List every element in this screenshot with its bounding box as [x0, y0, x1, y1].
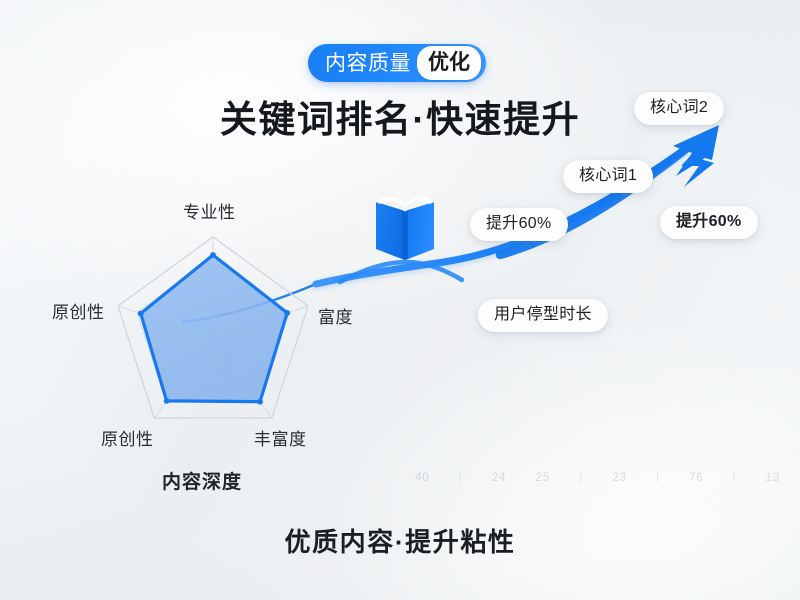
callout-keyword1[interactable]: 核心词1	[563, 160, 653, 193]
badge-chip-label: 优化	[417, 46, 481, 80]
content-depth-label: 内容深度	[162, 467, 242, 494]
callout-dwell-time[interactable]: 用户停型时长	[478, 299, 608, 332]
radar-chart	[28, 232, 398, 447]
open-book-icon	[372, 189, 438, 263]
status-badge[interactable]: 内容质量 优化	[308, 44, 486, 82]
page-title: 关键词排名·快速提升	[0, 89, 800, 143]
book-right-page	[408, 202, 434, 259]
callout-uplift-right[interactable]: 提升60%	[660, 206, 758, 239]
radar-label-bottom-right: 丰富度	[254, 425, 307, 450]
radar-label-left: 原创性	[52, 298, 105, 323]
radar-grid-group	[118, 237, 308, 418]
callout-uplift-left[interactable]: 提升60%	[470, 208, 568, 241]
radar-label-bottom-left: 原创性	[101, 425, 154, 450]
bottom-caption: 优质内容·提升粘性	[0, 522, 800, 559]
radar-label-top: 专业性	[183, 198, 236, 223]
poster-canvas: 内容质量 优化 关键词排名·快速提升	[0, 0, 800, 600]
book-left-page	[376, 202, 402, 259]
badge-main-label: 内容质量	[325, 53, 417, 74]
radar-label-right: 富度	[318, 303, 353, 328]
radar-chart-svg	[28, 232, 398, 447]
radar-data-polygon	[141, 255, 288, 402]
book-spine	[402, 210, 408, 260]
